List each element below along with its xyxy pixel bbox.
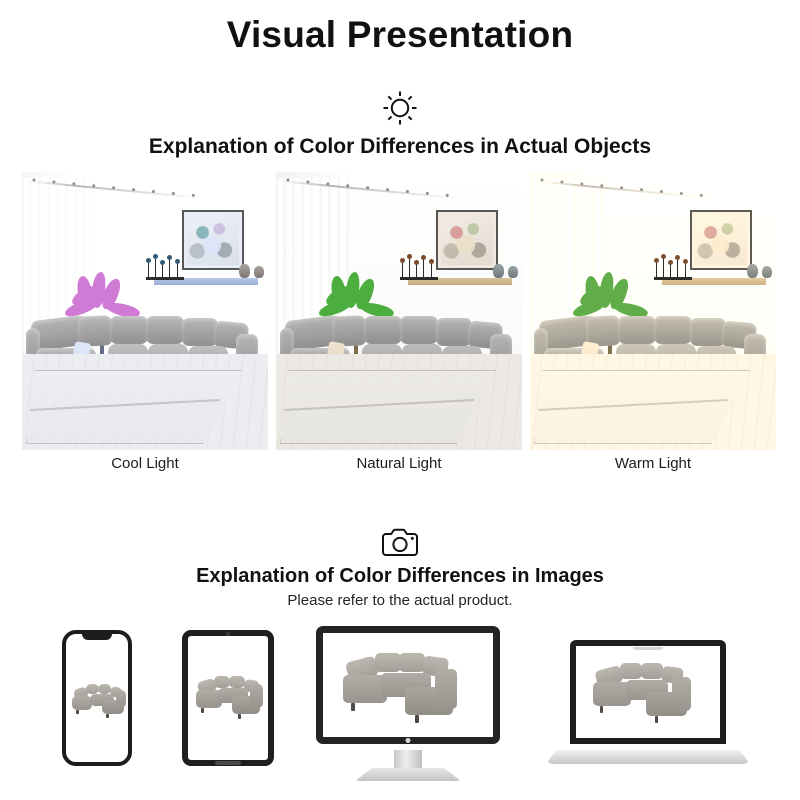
sofa-thumbnail-tablet (188, 636, 268, 760)
device-phone[interactable] (62, 630, 132, 766)
device-tablet[interactable] (182, 630, 274, 766)
decor-base (400, 277, 438, 280)
camera-icon (381, 527, 419, 559)
vase-right (762, 266, 772, 278)
vase-left (239, 264, 250, 278)
tablet-home-indicator (215, 761, 241, 765)
sofa-thumbnail-laptop (576, 646, 720, 738)
caption-cool-light: Cool Light (22, 455, 268, 472)
room-photo-row (22, 172, 778, 450)
device-monitor[interactable] (316, 626, 500, 744)
monitor-base (355, 768, 461, 781)
images-section-subheading: Please refer to the actual product. (0, 592, 800, 609)
page-title: Visual Presentation (0, 14, 800, 56)
images-section-heading: Explanation of Color Differences in Imag… (0, 565, 800, 588)
device-row (0, 616, 800, 781)
monitor-neck (394, 750, 422, 770)
wall-art (690, 210, 752, 270)
vase-left (747, 264, 758, 278)
vase-left (493, 264, 504, 278)
caption-natural-light: Natural Light (276, 455, 522, 472)
lighting-section-heading: Explanation of Color Differences in Actu… (0, 135, 800, 159)
decor-base (146, 277, 184, 280)
room-photo-natural (276, 172, 522, 450)
room-card-natural[interactable] (276, 172, 522, 450)
room-photo-warm (530, 172, 776, 450)
wall-art (436, 210, 498, 270)
sun-icon (380, 88, 420, 128)
decor-base (654, 277, 692, 280)
laptop-base (546, 750, 750, 764)
sun-icon-container (0, 88, 800, 128)
room-card-cool[interactable] (22, 172, 268, 450)
caption-warm-light: Warm Light (530, 455, 776, 472)
camera-icon-container (0, 527, 800, 559)
device-laptop[interactable] (570, 640, 726, 744)
visual-presentation-page: Visual Presentation Explanation of Color… (0, 0, 800, 800)
room-photo-cool (22, 172, 268, 450)
sofa-thumbnail-phone (66, 634, 128, 762)
vase-right (508, 266, 518, 278)
wall-art (182, 210, 244, 270)
sofa-thumbnail-monitor (323, 633, 493, 737)
room-card-warm[interactable] (530, 172, 776, 450)
monitor-power-indicator (406, 738, 411, 743)
vase-right (254, 266, 264, 278)
